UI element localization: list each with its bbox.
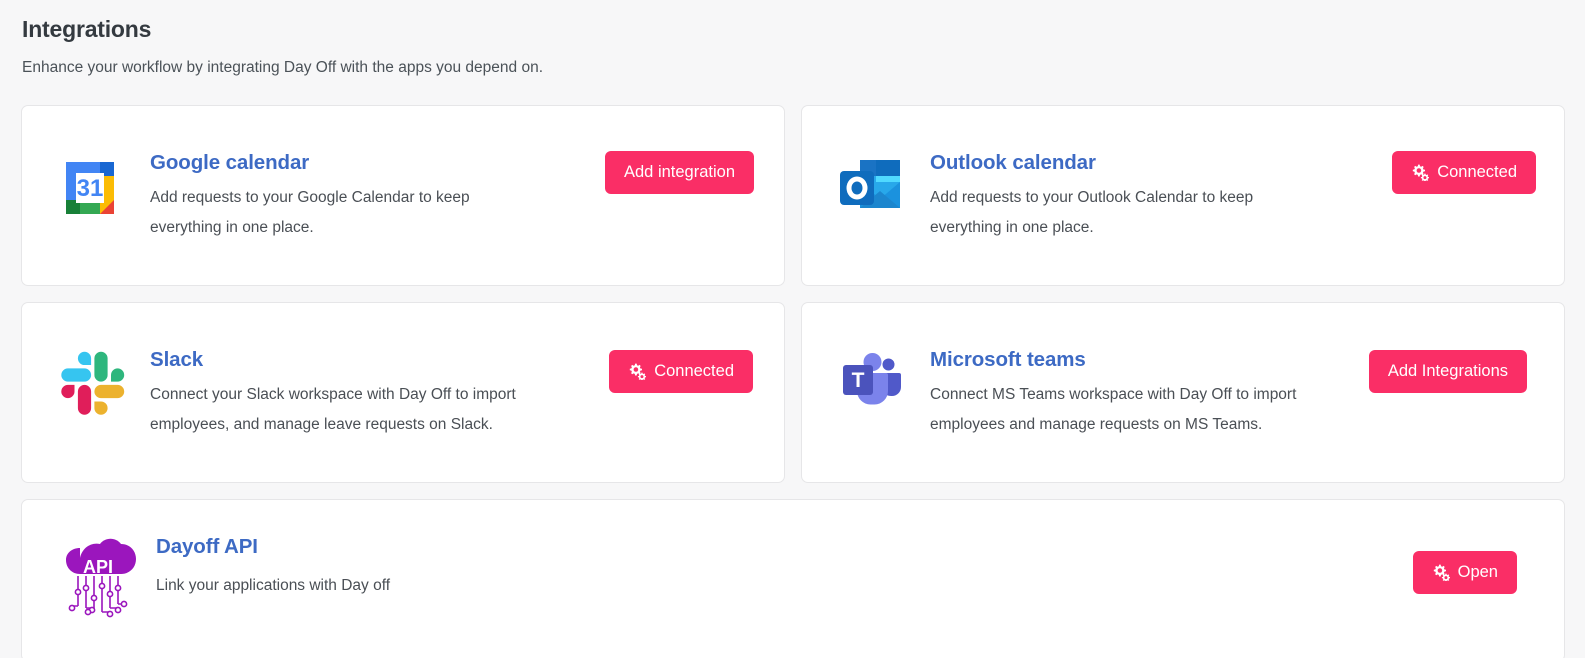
- outlook-calendar-icon-slot: [830, 148, 910, 227]
- api-cloud-icon-slot: API: [50, 532, 146, 629]
- integration-description: Connect MS Teams workspace with Day Off …: [930, 380, 1325, 440]
- svg-text:T: T: [852, 369, 865, 392]
- integration-description: Add requests to your Outlook Calendar to…: [930, 183, 1325, 243]
- button-label: Connected: [654, 363, 734, 380]
- page-header: Integrations Enhance your workflow by in…: [0, 0, 1585, 78]
- button-label: Open: [1458, 564, 1498, 581]
- microsoft-teams-button-slot: Add Integrations: [1369, 344, 1527, 393]
- integration-card-dayoff-api: API: [21, 499, 1565, 658]
- outlook-calendar-button-slot: Connected: [1392, 145, 1536, 194]
- cogs-icon: [1411, 164, 1430, 181]
- integration-description: Add requests to your Google Calendar to …: [150, 183, 545, 243]
- connected-button-slack[interactable]: Connected: [609, 350, 753, 393]
- integration-card-slack: Slack Connect your Slack workspace with …: [21, 302, 785, 483]
- integration-title[interactable]: Dayoff API: [156, 534, 1538, 560]
- integration-description: Link your applications with Day off: [156, 571, 1056, 601]
- connected-button-outlook-calendar[interactable]: Connected: [1392, 151, 1536, 194]
- svg-text:31: 31: [77, 175, 104, 202]
- button-label: Add integration: [624, 164, 735, 181]
- dayoff-api-text: Dayoff API Link your applications with D…: [146, 532, 1538, 601]
- button-label: Connected: [1437, 164, 1517, 181]
- page-title: Integrations: [22, 14, 1585, 44]
- button-label: Add Integrations: [1388, 363, 1508, 380]
- google-calendar-button-slot: Add integration: [605, 145, 754, 194]
- cogs-icon: [628, 363, 647, 380]
- slack-button-slot: Connected: [609, 344, 753, 393]
- outlook-calendar-icon: [832, 152, 908, 227]
- microsoft-teams-icon-slot: T: [830, 345, 910, 414]
- slack-icon-slot: [50, 345, 130, 424]
- cogs-icon: [1432, 564, 1451, 581]
- google-calendar-icon: 31: [54, 152, 126, 229]
- integration-card-outlook-calendar: Outlook calendar Add requests to your Ou…: [801, 105, 1565, 286]
- integrations-page: Integrations Enhance your workflow by in…: [0, 0, 1585, 658]
- add-integrations-button-microsoft-teams[interactable]: Add Integrations: [1369, 350, 1527, 393]
- integration-card-microsoft-teams: T Microsoft teams Connect MS Teams works…: [801, 302, 1565, 483]
- dayoff-api-button-slot: Open: [1413, 545, 1517, 594]
- integration-description: Connect your Slack workspace with Day Of…: [150, 380, 545, 440]
- microsoft-teams-icon: T: [839, 349, 901, 414]
- svg-text:API: API: [83, 557, 113, 577]
- add-integration-button-google-calendar[interactable]: Add integration: [605, 151, 754, 194]
- slack-icon: [55, 349, 125, 424]
- page-subtitle: Enhance your workflow by integrating Day…: [22, 58, 1585, 78]
- integrations-grid: 31 Google calendar Add requests to your …: [21, 105, 1565, 658]
- open-button-dayoff-api[interactable]: Open: [1413, 551, 1517, 594]
- google-calendar-icon-slot: 31: [50, 148, 130, 229]
- integration-card-google-calendar: 31 Google calendar Add requests to your …: [21, 105, 785, 286]
- api-cloud-icon: API: [56, 536, 140, 629]
